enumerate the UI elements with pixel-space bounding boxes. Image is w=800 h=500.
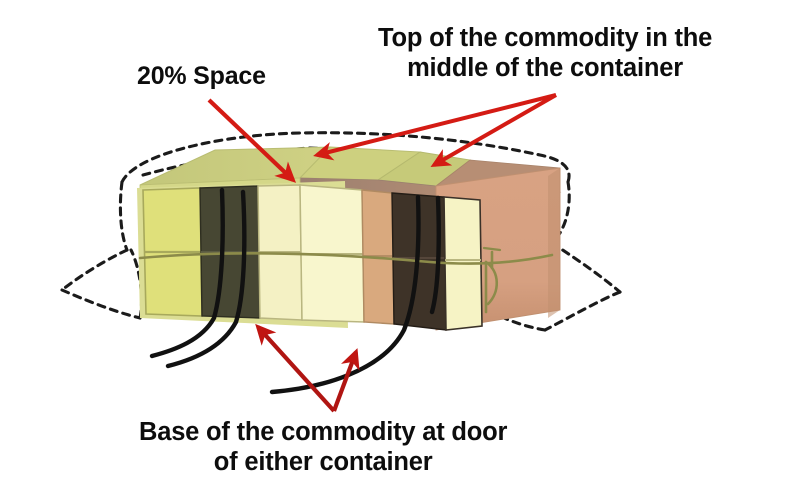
arrow-base-right <box>334 352 356 411</box>
label-top-of-commodity: Top of the commodity in themiddle of the… <box>378 23 712 83</box>
label-base-of-commodity: Base of the commodity at doorof either c… <box>139 417 507 477</box>
label-base-line2: of either container <box>139 447 507 477</box>
label-base-line1: Base of the commodity at door <box>139 418 507 446</box>
arrow-base-pair <box>258 327 356 411</box>
arrow-base-left <box>258 327 334 411</box>
arrow-top-left <box>317 95 556 155</box>
label-20-percent-space: 20% Space <box>137 62 266 92</box>
label-top-line1: Top of the commodity in the <box>378 24 712 52</box>
label-top-line2: middle of the container <box>378 53 712 83</box>
diagram-canvas: 20% Space Top of the commodity in themid… <box>0 0 800 500</box>
